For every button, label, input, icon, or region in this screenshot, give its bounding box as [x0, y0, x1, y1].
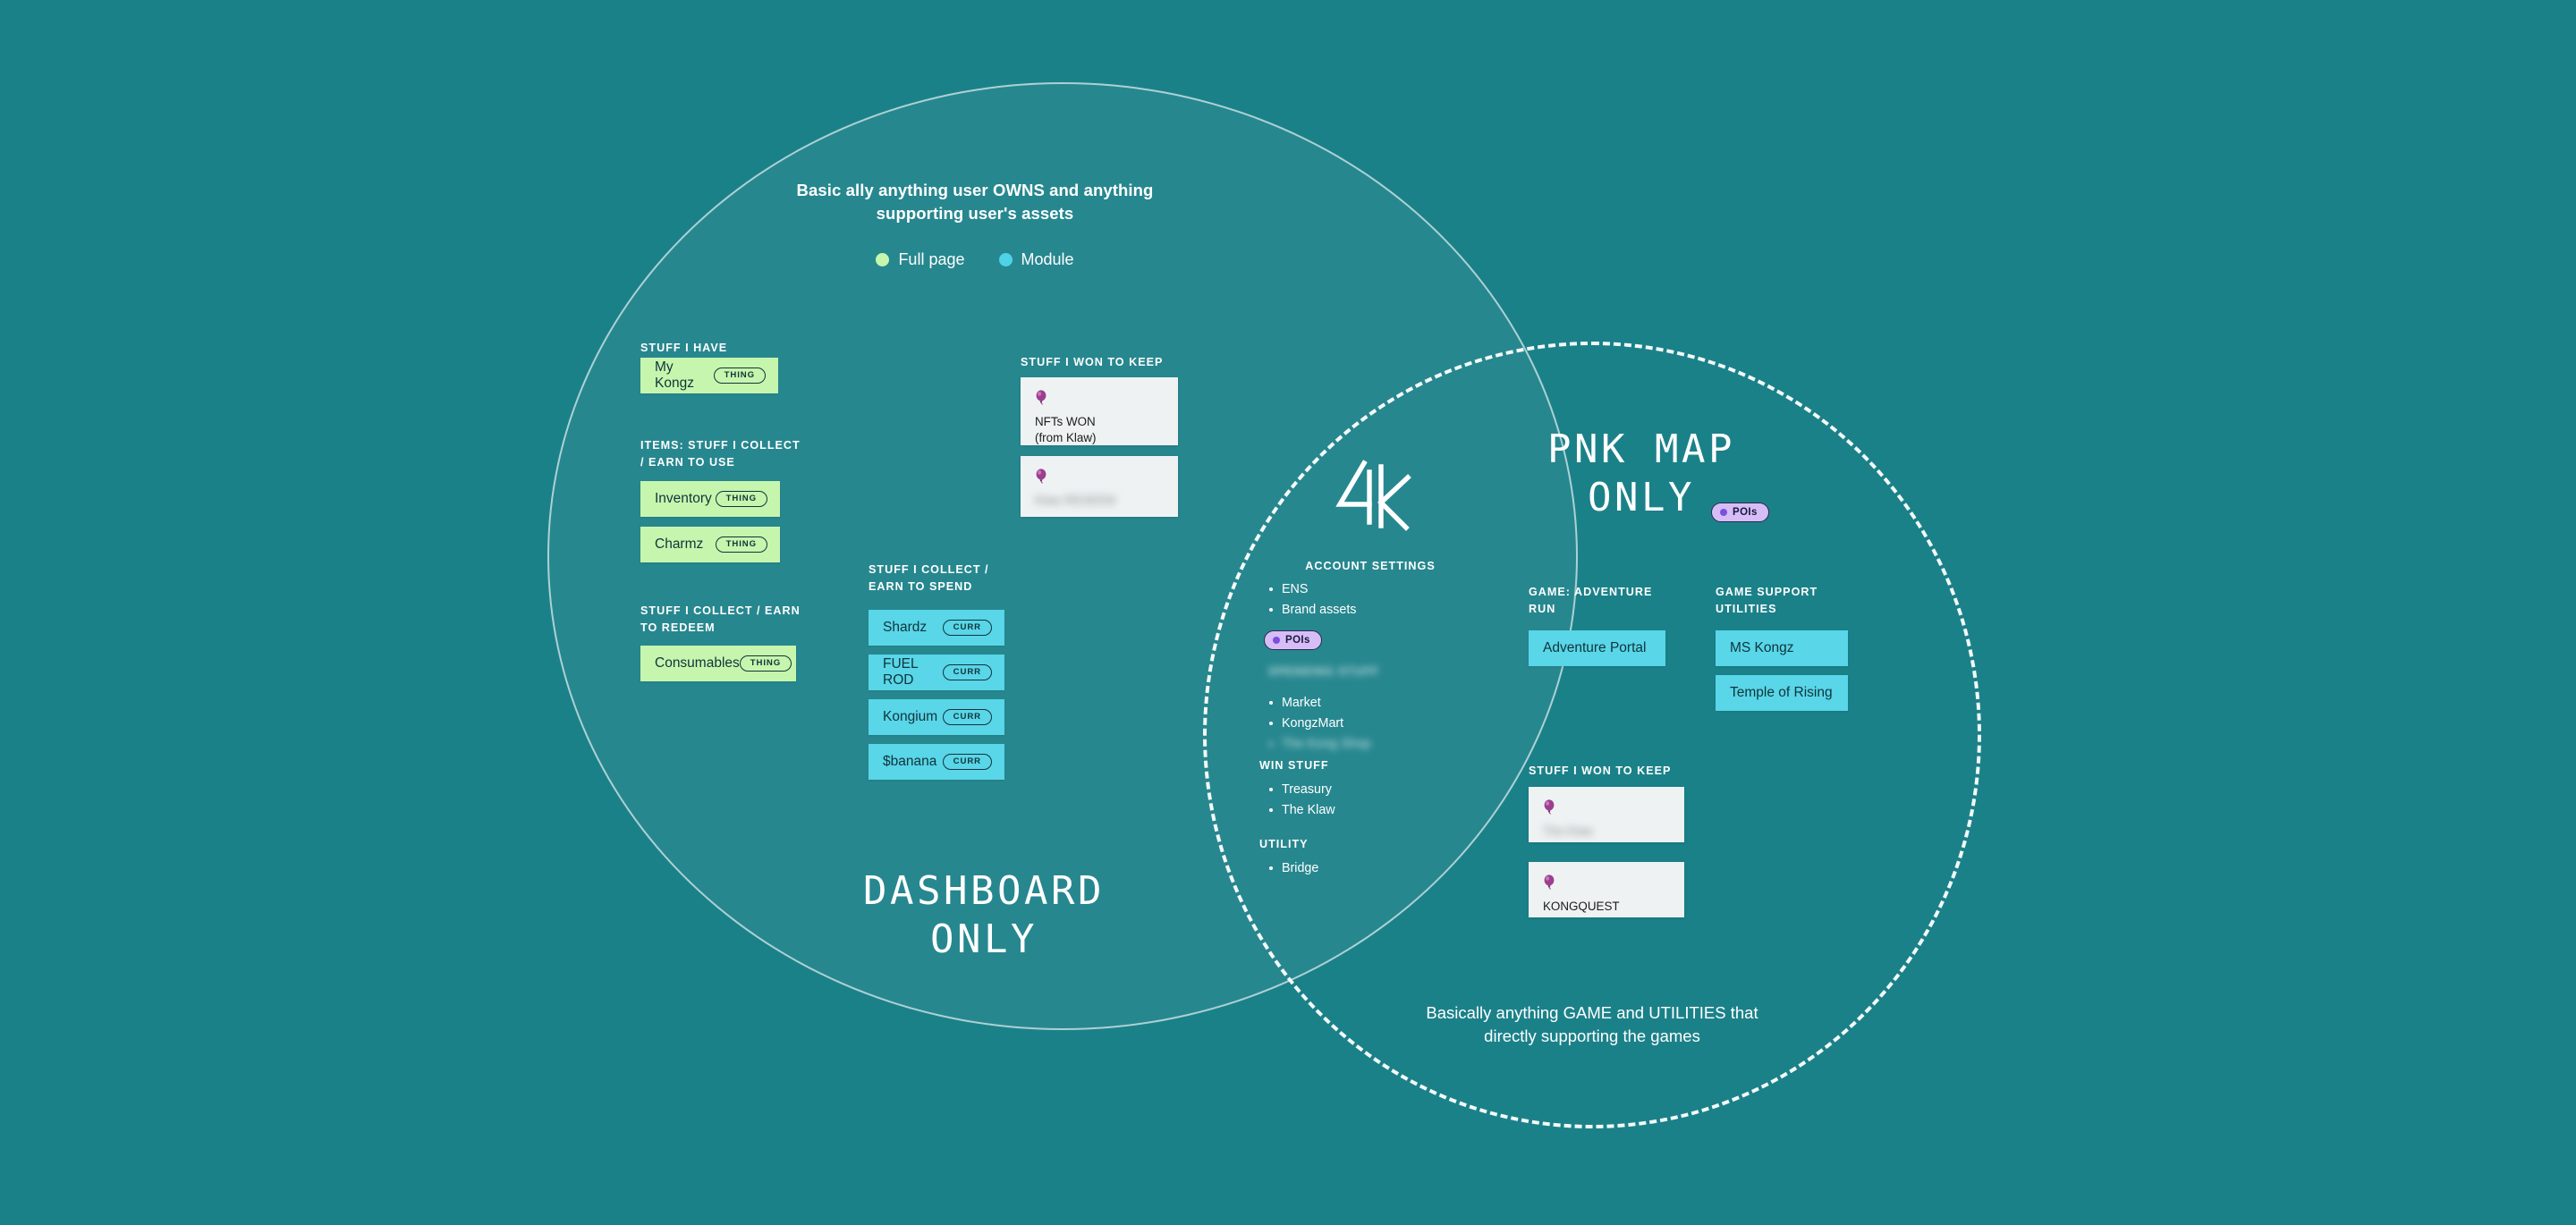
- pill-fuel-rod[interactable]: FUEL ROD CURR: [869, 655, 1004, 690]
- pill-tag: CURR: [943, 664, 992, 681]
- pill-tag: CURR: [943, 754, 992, 771]
- pill-label: Kongium: [883, 709, 937, 725]
- list-item[interactable]: Bridge: [1268, 858, 1318, 879]
- balloon-icon: [1543, 874, 1555, 890]
- balloon-icon: [1035, 469, 1047, 484]
- pois-badge-right[interactable]: POIs: [1711, 503, 1769, 522]
- pill-tag: CURR: [943, 620, 992, 637]
- list-item[interactable]: Treasury: [1268, 780, 1335, 800]
- legend-dot-module: [999, 253, 1013, 266]
- legend-dot-full-page: [876, 253, 889, 266]
- heading-game-adventure-run: GAME: ADVENTURE RUN: [1529, 584, 1652, 618]
- card-nfts-won[interactable]: NFTs WON (from Klaw): [1021, 377, 1178, 445]
- heading-right-won-to-keep: STUFF I WON TO KEEP: [1529, 763, 1671, 780]
- pois-badge-label: POIs: [1285, 635, 1310, 646]
- pill-tag: THING: [716, 536, 767, 553]
- card-right-blurred[interactable]: The Klaw: [1529, 787, 1684, 842]
- venn-diagram-canvas: Basic ally anything user OWNS and anythi…: [0, 0, 2576, 1225]
- heading-utility: UTILITY: [1259, 838, 1309, 850]
- card-text: Klaw REDEEM: [1035, 493, 1164, 509]
- heading-stuff-i-have: STUFF I HAVE: [640, 340, 727, 357]
- pill-banana[interactable]: $banana CURR: [869, 744, 1004, 780]
- list-item[interactable]: Brand assets: [1268, 600, 1356, 621]
- legend-label-module: Module: [1021, 250, 1074, 269]
- pill-label: Adventure Portal: [1543, 640, 1646, 656]
- pill-tag: THING: [740, 655, 792, 672]
- list-item[interactable]: ENS: [1268, 579, 1356, 600]
- pois-dot-icon: [1273, 637, 1280, 644]
- legend: Full page Module: [751, 250, 1199, 269]
- dashboard-only-label: DASHBOARD ONLY: [729, 867, 1239, 963]
- list-account-settings: ENS Brand assets: [1268, 579, 1356, 621]
- pill-label: My Kongz: [655, 359, 714, 392]
- pois-dot-icon: [1720, 509, 1727, 516]
- pois-badge-label: POIs: [1733, 507, 1758, 518]
- pill-kongium[interactable]: Kongium CURR: [869, 699, 1004, 735]
- pill-ms-kongz[interactable]: MS Kongz: [1716, 630, 1848, 666]
- heading-collect-spend: STUFF I COLLECT / EARN TO SPEND: [869, 562, 989, 596]
- balloon-icon: [1543, 799, 1555, 815]
- heading-game-support-utilities: GAME SUPPORT UTILITIES: [1716, 584, 1818, 618]
- pill-label: MS Kongz: [1730, 640, 1794, 656]
- card-kongquest[interactable]: KONGQUEST: [1529, 862, 1684, 917]
- pill-inventory[interactable]: Inventory THING: [640, 481, 780, 517]
- list-item[interactable]: The Klaw: [1268, 800, 1335, 821]
- pois-badge-center[interactable]: POIs: [1264, 630, 1322, 650]
- pill-tag: CURR: [943, 709, 992, 726]
- balloon-icon: [1035, 390, 1047, 405]
- pill-label: Shardz: [883, 620, 927, 636]
- card-text: NFTs WON (from Klaw): [1035, 414, 1164, 445]
- heading-items-collect-use: ITEMS: STUFF I COLLECT / EARN TO USE: [640, 437, 801, 471]
- four-k-logo-icon: [1329, 458, 1415, 535]
- heading-collect-redeem: STUFF I COLLECT / EARN TO REDEEM: [640, 603, 801, 637]
- diagram-subtitle: Basic ally anything user OWNS and anythi…: [751, 179, 1199, 226]
- list-utility: Bridge: [1268, 858, 1318, 879]
- heading-left-won-to-keep: STUFF I WON TO KEEP: [1021, 354, 1163, 371]
- pill-my-kongz[interactable]: My Kongz THING: [640, 358, 778, 393]
- pill-adventure-portal[interactable]: Adventure Portal: [1529, 630, 1665, 666]
- pill-label: $banana: [883, 754, 936, 770]
- pill-label: FUEL ROD: [883, 656, 943, 689]
- pill-label: Inventory: [655, 491, 712, 507]
- right-caption: Basically anything GAME and UTILITIES th…: [1413, 1001, 1771, 1049]
- list-pois: Market KongzMart The Kong Shop: [1268, 693, 1370, 755]
- pill-tag: THING: [714, 367, 766, 384]
- legend-item-full-page: Full page: [876, 250, 964, 269]
- list-win-stuff: Treasury The Klaw: [1268, 780, 1335, 821]
- card-left-blurred[interactable]: Klaw REDEEM: [1021, 456, 1178, 517]
- heading-account-settings: ACCOUNT SETTINGS: [1305, 560, 1435, 572]
- pill-label: Temple of Rising: [1730, 685, 1833, 701]
- list-item[interactable]: KongzMart: [1268, 714, 1370, 734]
- list-item[interactable]: Market: [1268, 693, 1370, 714]
- pill-label: Charmz: [655, 536, 703, 553]
- heading-win-stuff: WIN STUFF: [1259, 759, 1329, 772]
- legend-label-full-page: Full page: [898, 250, 964, 269]
- pnk-map-only-label: PNK MAP ONLY: [1449, 426, 1834, 521]
- list-item[interactable]: The Kong Shop: [1268, 734, 1370, 755]
- pill-temple-of-rising[interactable]: Temple of Rising: [1716, 675, 1848, 711]
- pill-consumables[interactable]: Consumables THING: [640, 646, 796, 681]
- heading-blurred-center: SPENDING STUFF: [1268, 665, 1379, 678]
- pill-tag: THING: [716, 491, 767, 508]
- card-text: KONGQUEST: [1543, 899, 1670, 915]
- pill-label: Consumables: [655, 655, 740, 672]
- pill-shardz[interactable]: Shardz CURR: [869, 610, 1004, 646]
- legend-item-module: Module: [999, 250, 1074, 269]
- card-text: The Klaw: [1543, 824, 1670, 840]
- pill-charmz[interactable]: Charmz THING: [640, 527, 780, 562]
